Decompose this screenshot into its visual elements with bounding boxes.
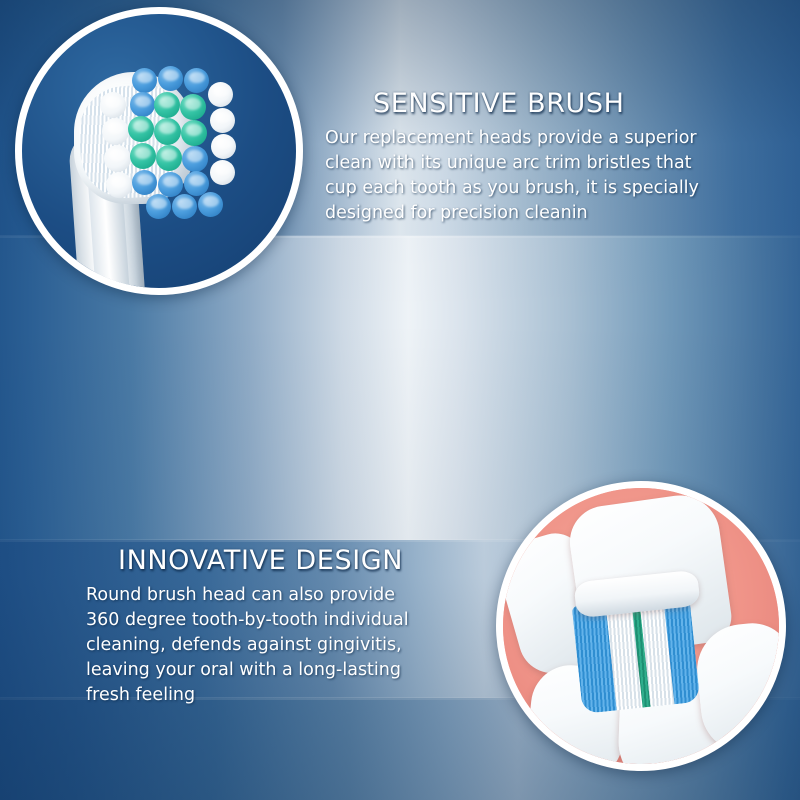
- feature-title-sensitive-brush: SENSITIVE BRUSH: [373, 88, 699, 119]
- bristle-tuft-white: [104, 145, 131, 172]
- bristle-tuft-blue: [132, 68, 157, 93]
- feature-block-sensitive-brush: SENSITIVE BRUSH Our replacement heads pr…: [325, 88, 699, 226]
- product-feature-banner: SENSITIVE BRUSH Our replacement heads pr…: [0, 0, 800, 800]
- bristle-tuft-blue: [158, 66, 183, 91]
- bristle-tuft-white: [106, 172, 132, 198]
- bristle-tuft-white: [211, 134, 236, 159]
- bristle-tuft-blue: [132, 170, 157, 195]
- bristle-tuft-blue: [146, 194, 171, 219]
- feature-body-line: clean with its unique arc trim bristles …: [325, 151, 699, 176]
- bristle-tuft-white: [208, 82, 233, 107]
- feature-body-line: cup each tooth as you brush, it is speci…: [325, 176, 699, 201]
- bristle-tuft-white: [100, 92, 126, 118]
- bristle-tuft-teal: [154, 92, 180, 118]
- feature-body-line: leaving your oral with a long-lasting: [86, 658, 409, 683]
- feature-title-innovative-design: INNOVATIVE DESIGN: [118, 545, 409, 576]
- bristle-tuft-teal: [130, 143, 156, 169]
- teeth-illustration: [503, 488, 779, 764]
- feature-body-line: Our replacement heads provide a superior: [325, 126, 699, 151]
- bristle-tuft-blue: [158, 172, 183, 197]
- bristle-tuft-teal: [154, 118, 181, 145]
- brush-head-photo: [15, 7, 303, 295]
- brush-head-illustration: [22, 14, 296, 288]
- feature-body-line: designed for precision cleanin: [325, 201, 699, 226]
- feature-body-innovative-design: Round brush head can also provide 360 de…: [86, 583, 409, 708]
- bristle-tuft-teal: [128, 116, 154, 142]
- feature-body-line: fresh feeling: [86, 683, 409, 708]
- bristle-tuft-teal: [181, 120, 207, 146]
- bristle-tuft-blue: [184, 68, 209, 93]
- feature-body-line: Round brush head can also provide: [86, 583, 409, 608]
- bristle-tuft-blue: [172, 194, 197, 219]
- bristle-tuft-blue: [182, 146, 208, 172]
- feature-block-innovative-design: INNOVATIVE DESIGN Round brush head can a…: [86, 545, 409, 708]
- feature-body-line: cleaning, defends against gingivitis,: [86, 633, 409, 658]
- feature-body-sensitive-brush: Our replacement heads provide a superior…: [325, 126, 699, 226]
- bristle-tuft-blue: [198, 192, 223, 217]
- bristle-tuft-teal: [156, 145, 182, 171]
- bristle-tuft-white: [210, 160, 235, 185]
- bristle-tuft-white: [102, 118, 129, 145]
- teeth-cleaning-photo: [496, 481, 786, 771]
- feature-body-line: 360 degree tooth-by-tooth individual: [86, 608, 409, 633]
- bristle-tuft-teal: [180, 94, 206, 120]
- bristle-tuft-blue: [130, 92, 155, 117]
- bristle-tuft-white: [210, 108, 235, 133]
